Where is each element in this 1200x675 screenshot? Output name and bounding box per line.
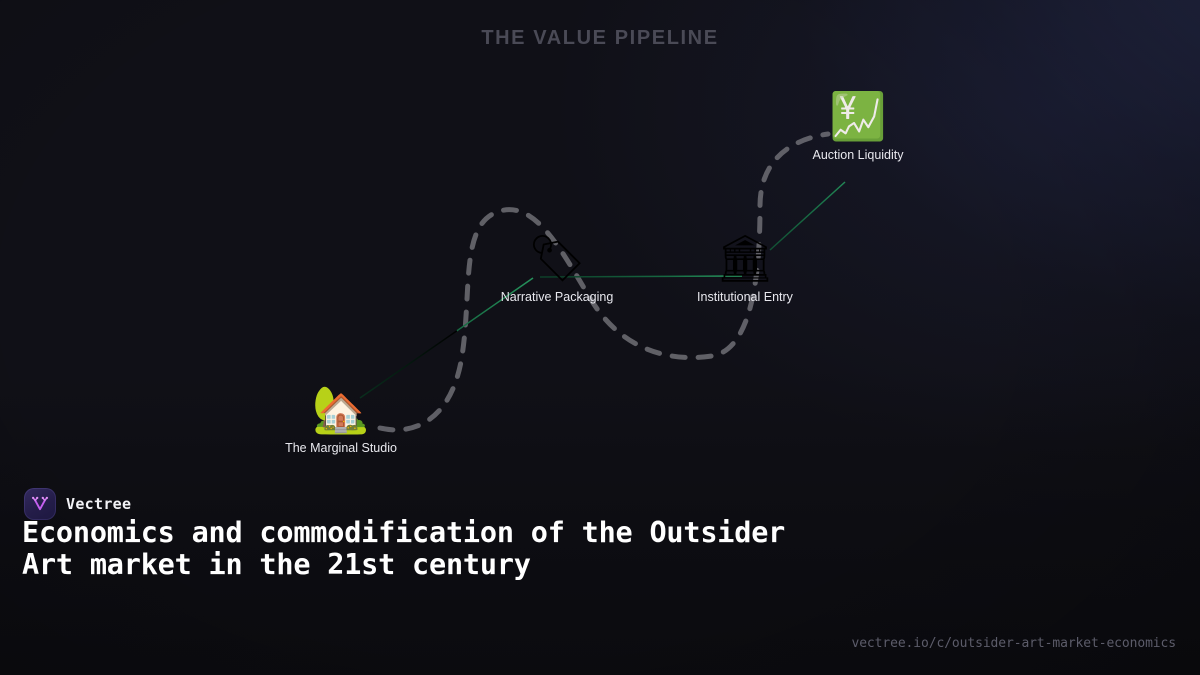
pipeline-node-auction-liquidity[interactable]: 💹 Auction Liquidity [773, 88, 943, 162]
house-icon: 🏡 [256, 381, 426, 437]
label-tag-icon: 🏷 [472, 230, 642, 286]
chart-increasing-yen-icon: 💹 [773, 88, 943, 144]
brand-name: Vectree [66, 495, 131, 513]
screenshot-canvas: THE VALUE PIPELINE [0, 0, 1200, 675]
pipeline-node-marginal-studio[interactable]: 🏡 The Marginal Studio [256, 381, 426, 455]
footer: Vectree Economics and commodification of… [0, 475, 1200, 675]
pipeline-node-narrative-packaging[interactable]: 🏷 Narrative Packaging [472, 230, 642, 304]
branch-glyph-icon [30, 494, 50, 514]
pipeline-node-institutional-entry[interactable]: 🏛 Institutional Entry [660, 230, 830, 304]
classical-bank-icon: 🏛 [660, 230, 830, 286]
headline: Economics and commodification of the Out… [22, 517, 822, 581]
pipeline-node-label: Auction Liquidity [773, 148, 943, 162]
pipeline-node-label: Narrative Packaging [472, 290, 642, 304]
footer-url: vectree.io/c/outsider-art-market-economi… [851, 636, 1176, 651]
pipeline-node-label: The Marginal Studio [256, 441, 426, 455]
pipeline-node-label: Institutional Entry [660, 290, 830, 304]
